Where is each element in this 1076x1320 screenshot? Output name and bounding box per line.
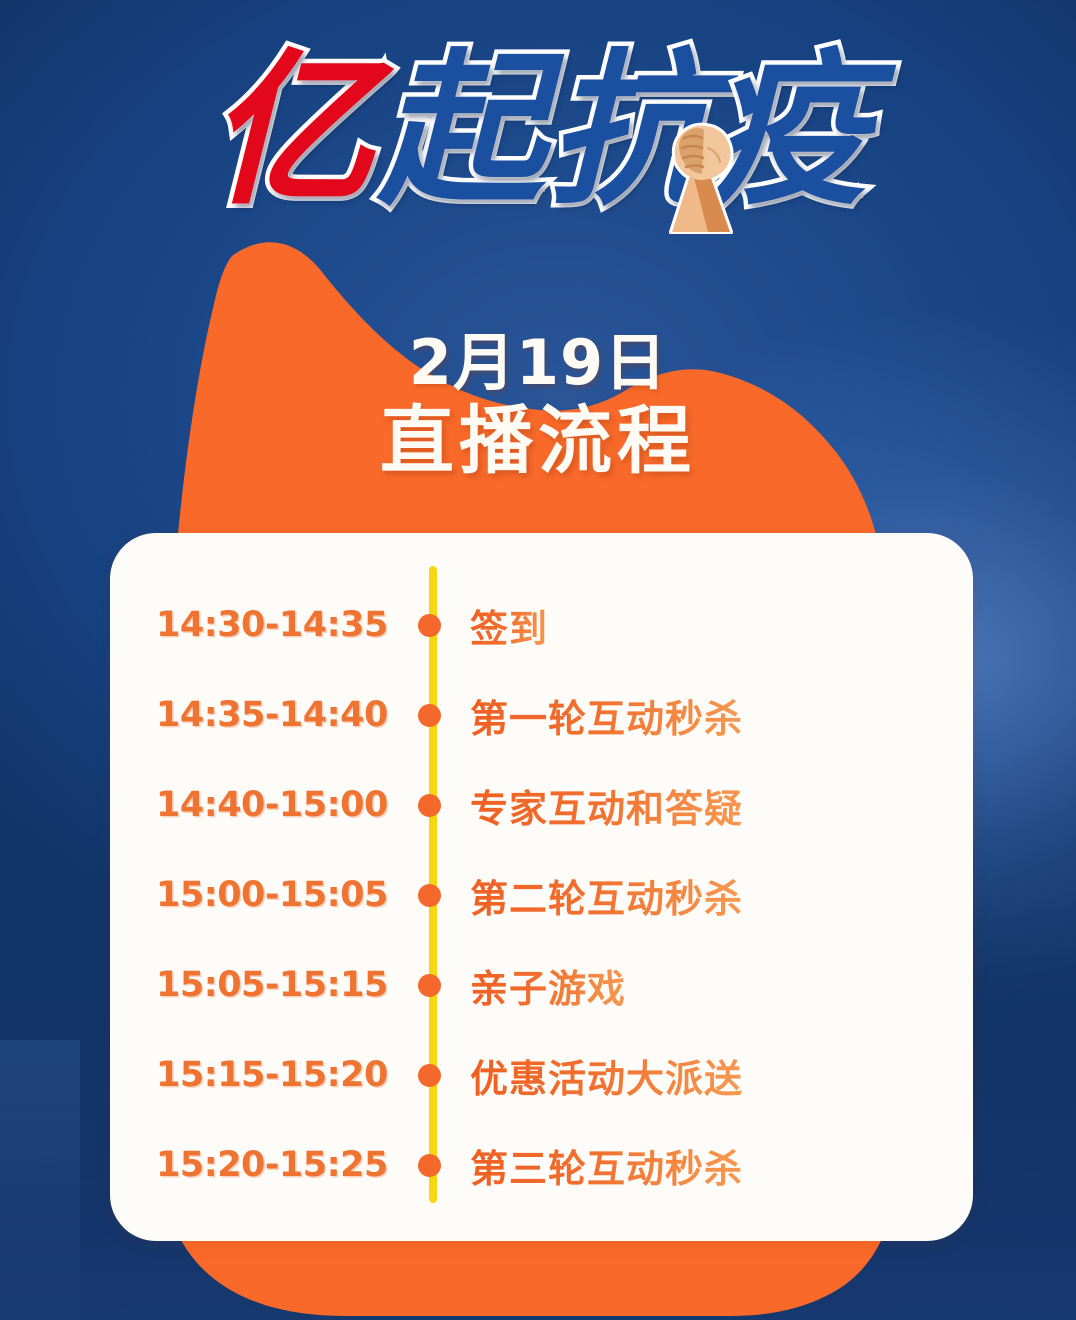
poster-title: 亿 起 抗 疫: [0, 16, 1076, 246]
row-label: 专家互动和答疑: [470, 778, 743, 833]
title-char-1: 亿: [208, 48, 372, 214]
schedule-row-5[interactable]: 15:05-15:15 亲子游戏: [110, 940, 973, 1030]
clasped-hands-icon: [646, 104, 756, 234]
timeline-dot: [418, 974, 441, 997]
row-time: 14:30-14:35: [156, 605, 401, 645]
schedule-row-1[interactable]: 14:30-14:35 签到: [110, 580, 973, 670]
row-time: 15:15-15:20: [156, 1055, 401, 1095]
timeline-dot: [418, 884, 441, 907]
row-label: 签到: [470, 598, 548, 653]
title-char-2: 起: [378, 48, 542, 214]
schedule-row-3[interactable]: 14:40-15:00 专家互动和答疑: [110, 760, 973, 850]
timeline-dot: [418, 1154, 441, 1177]
timeline-dot: [418, 614, 441, 637]
row-time: 15:20-15:25: [156, 1145, 401, 1185]
timeline-dot: [418, 1064, 441, 1087]
row-label: 优惠活动大派送: [470, 1048, 743, 1103]
promo-poster: 亿 起 抗 疫 2月19日 直播流程 14: [0, 0, 1076, 1320]
schedule-row-7[interactable]: 15:20-15:25 第三轮互动秒杀: [110, 1120, 973, 1210]
row-time: 15:00-15:05: [156, 875, 401, 915]
row-time: 14:35-14:40: [156, 695, 401, 735]
row-label: 第一轮互动秒杀: [470, 688, 743, 743]
header-date: 2月19日: [0, 330, 1076, 395]
row-label: 第二轮互动秒杀: [470, 868, 743, 923]
schedule-row-6[interactable]: 15:15-15:20 优惠活动大派送: [110, 1030, 973, 1120]
schedule-row-4[interactable]: 15:00-15:05 第二轮互动秒杀: [110, 850, 973, 940]
row-time: 14:40-15:00: [156, 785, 401, 825]
header-subtitle: 直播流程: [0, 399, 1076, 485]
schedule-row-2[interactable]: 14:35-14:40 第一轮互动秒杀: [110, 670, 973, 760]
row-label: 第三轮互动秒杀: [470, 1138, 743, 1193]
timeline-dot: [418, 704, 441, 727]
schedule-header: 2月19日 直播流程: [0, 330, 1076, 485]
row-label: 亲子游戏: [470, 958, 626, 1013]
row-time: 15:05-15:15: [156, 965, 401, 1005]
schedule-list: 14:30-14:35 签到 14:35-14:40 第一轮互动秒杀 14:40…: [110, 533, 973, 1210]
timeline-dot: [418, 794, 441, 817]
